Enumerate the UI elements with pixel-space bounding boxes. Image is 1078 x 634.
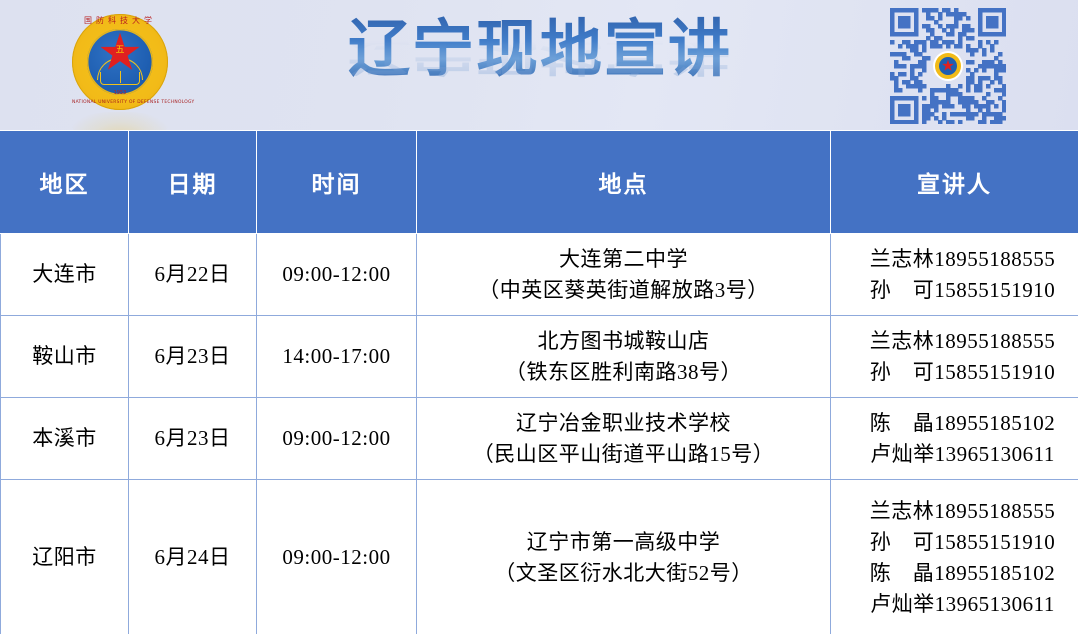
cell-speaker: 陈 晶18955185102卢灿举13965130611: [831, 398, 1078, 480]
cell-time: 14:00-17:00: [257, 316, 417, 398]
speaker-contact: 兰志林18955188555: [847, 326, 1078, 357]
column-header-place: 地点: [417, 131, 831, 234]
cell-area: 辽阳市: [1, 480, 129, 634]
speaker-contact: 孙 可15855151910: [847, 275, 1078, 306]
speaker-contact: 孙 可15855151910: [847, 527, 1078, 558]
table-body: 大连市6月22日09:00-12:00大连第二中学（中英区葵英街道解放路3号）兰…: [1, 234, 1078, 634]
schedule-table: 地区 日期 时间 地点 宣讲人 大连市6月22日09:00-12:00大连第二中…: [0, 130, 1078, 634]
nudt-emblem-icon: 国防科技大学 五 1953 NATIONAL UNIVERSITY OF DEF…: [72, 14, 168, 124]
cell-date: 6月24日: [129, 480, 257, 634]
cell-speaker: 兰志林18955188555孙 可15855151910: [831, 234, 1078, 316]
table-row: 鞍山市6月23日14:00-17:00北方图书城鞍山店（铁东区胜利南路38号）兰…: [1, 316, 1078, 398]
column-header-date: 日期: [129, 131, 257, 234]
speaker-contact: 兰志林18955188555: [847, 496, 1078, 527]
column-header-time: 时间: [257, 131, 417, 234]
qr-code-icon[interactable]: [890, 8, 1006, 124]
cell-time: 09:00-12:00: [257, 398, 417, 480]
place-line: 大连第二中学: [417, 244, 830, 275]
cell-speaker: 兰志林18955188555孙 可15855151910陈 晶189551851…: [831, 480, 1078, 634]
place-line: 北方图书城鞍山店: [417, 326, 830, 357]
page-title: 辽宁现地宣讲: [300, 8, 780, 90]
place-line: （铁东区胜利南路38号）: [417, 357, 830, 388]
cell-place: 大连第二中学（中英区葵英街道解放路3号）: [417, 234, 831, 316]
poster-root: 国防科技大学 五 1953 NATIONAL UNIVERSITY OF DEF…: [0, 0, 1078, 634]
speaker-contact: 兰志林18955188555: [847, 244, 1078, 275]
speaker-contact: 孙 可15855151910: [847, 357, 1078, 388]
speaker-contact: 陈 晶18955185102: [847, 408, 1078, 439]
cell-speaker: 兰志林18955188555孙 可15855151910: [831, 316, 1078, 398]
place-line: （中英区葵英街道解放路3号）: [417, 275, 830, 306]
speaker-contact: 卢灿举13965130611: [847, 589, 1078, 620]
column-header-speaker: 宣讲人: [831, 131, 1078, 234]
cell-time: 09:00-12:00: [257, 480, 417, 634]
emblem-book-icon: [100, 72, 140, 85]
qr-center-emblem-icon: [935, 53, 961, 79]
emblem-badge: 国防科技大学 五 1953 NATIONAL UNIVERSITY OF DEF…: [72, 14, 168, 110]
place-line: （民山区平山街道平山路15号）: [417, 439, 830, 470]
table-row: 本溪市6月23日09:00-12:00辽宁冶金职业技术学校（民山区平山街道平山路…: [1, 398, 1078, 480]
cell-area: 本溪市: [1, 398, 129, 480]
place-line: 辽宁市第一高级中学: [417, 527, 830, 558]
cell-date: 6月23日: [129, 316, 257, 398]
speaker-contact: 陈 晶18955185102: [847, 558, 1078, 589]
speaker-contact: 卢灿举13965130611: [847, 439, 1078, 470]
table-header-row: 地区 日期 时间 地点 宣讲人: [1, 131, 1078, 234]
banner: 国防科技大学 五 1953 NATIONAL UNIVERSITY OF DEF…: [0, 0, 1078, 130]
cell-area: 鞍山市: [1, 316, 129, 398]
emblem-bottom-text: NATIONAL UNIVERSITY OF DEFENSE TECHNOLOG…: [72, 101, 168, 105]
schedule-table-area: 地区 日期 时间 地点 宣讲人 大连市6月22日09:00-12:00大连第二中…: [0, 130, 1078, 634]
emblem-star-char: 五: [115, 47, 124, 56]
cell-area: 大连市: [1, 234, 129, 316]
cell-date: 6月22日: [129, 234, 257, 316]
emblem-inner-disc: 五: [87, 29, 153, 95]
cell-place: 北方图书城鞍山店（铁东区胜利南路38号）: [417, 316, 831, 398]
banner-title-block: 辽宁现地宣讲 辽宁现地宣讲: [300, 8, 780, 130]
column-header-area: 地区: [1, 131, 129, 234]
place-line: （文圣区衍水北大街52号）: [417, 558, 830, 589]
emblem-year: 1953: [72, 91, 168, 96]
qr-center-disc: [939, 57, 957, 75]
cell-time: 09:00-12:00: [257, 234, 417, 316]
qr-center-star-icon: [942, 60, 954, 72]
emblem-top-text: 国防科技大学: [72, 17, 168, 25]
cell-place: 辽宁冶金职业技术学校（民山区平山街道平山路15号）: [417, 398, 831, 480]
table-row: 大连市6月22日09:00-12:00大连第二中学（中英区葵英街道解放路3号）兰…: [1, 234, 1078, 316]
place-line: 辽宁冶金职业技术学校: [417, 408, 830, 439]
table-row: 辽阳市6月24日09:00-12:00辽宁市第一高级中学（文圣区衍水北大街52号…: [1, 480, 1078, 634]
cell-date: 6月23日: [129, 398, 257, 480]
cell-place: 辽宁市第一高级中学（文圣区衍水北大街52号）: [417, 480, 831, 634]
